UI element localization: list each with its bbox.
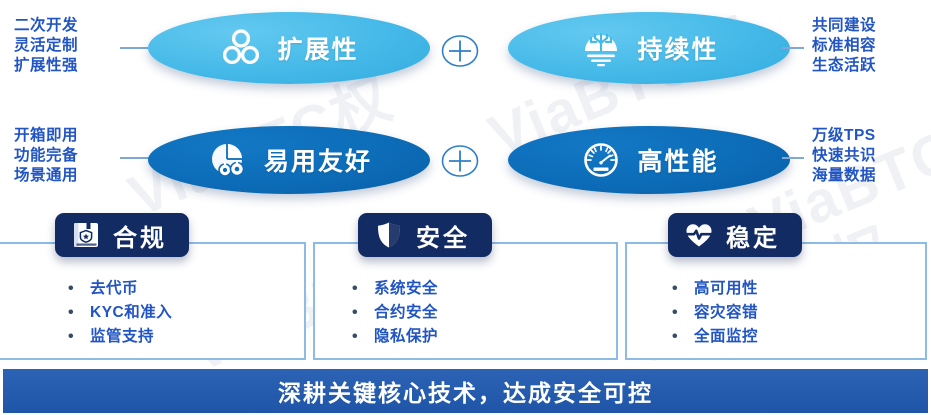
bullet-icon: • (672, 277, 694, 301)
label-line: 标准相容 (812, 36, 876, 56)
bullet-icon: • (68, 277, 90, 301)
label-line: 二次开发 (14, 16, 78, 36)
list-item: •全面监控 (672, 325, 758, 349)
list-item-label: 监管支持 (90, 325, 154, 349)
three-circles-icon (219, 26, 263, 70)
row1-right-connector (782, 47, 804, 49)
pill-performance[interactable]: 高性能 (508, 126, 790, 194)
bullet-icon: • (68, 325, 90, 349)
row2-right-label: 万级TPS 快速共识 海量数据 (812, 126, 876, 186)
shield-icon (374, 220, 404, 250)
label-line: 场景通用 (14, 166, 78, 186)
speedometer-icon (579, 138, 623, 182)
list-item-label: 隐私保护 (374, 325, 438, 349)
list-item-label: 高可用性 (694, 277, 758, 301)
list-item: •系统安全 (352, 277, 438, 301)
card-stability[interactable] (625, 242, 927, 360)
list-item-label: 容灾容错 (694, 301, 758, 325)
card-stability-header[interactable]: 稳定 (668, 213, 802, 257)
label-line: 海量数据 (812, 166, 876, 186)
bullet-icon: • (68, 301, 90, 325)
book-badge-icon (71, 220, 101, 250)
card-security-header[interactable]: 安全 (358, 213, 492, 257)
label-line: 灵活定制 (14, 36, 78, 56)
pill-sustainability[interactable]: 持续性 (508, 12, 790, 84)
infographic-canvas: ViaBTC权 ViaBTC权 ViaBTC权 ViaBTC权 ViaBTC权 … (0, 0, 931, 415)
list-item-label: KYC和准入 (90, 301, 172, 325)
tree-water-icon (579, 26, 623, 70)
list-item-label: 系统安全 (374, 277, 438, 301)
label-line: 共同建设 (812, 16, 876, 36)
row1-left-connector (120, 47, 150, 49)
banner-text: 深耕关键核心技术，达成安全可控 (278, 374, 653, 408)
list-item: •监管支持 (68, 325, 172, 349)
row1-left-label: 二次开发 灵活定制 扩展性强 (14, 16, 78, 76)
card-title: 合规 (113, 218, 167, 253)
card-compliance-list: •去代币 •KYC和准入 •监管支持 (68, 277, 172, 349)
heart-pulse-icon (684, 220, 714, 250)
list-item: •高可用性 (672, 277, 758, 301)
pie-gears-icon (206, 138, 250, 182)
list-item-label: 合约安全 (374, 301, 438, 325)
row2-left-connector (120, 157, 150, 159)
card-title: 稳定 (726, 218, 780, 253)
label-line: 扩展性强 (14, 56, 78, 76)
bullet-icon: • (352, 301, 374, 325)
pill-usability[interactable]: 易用友好 (148, 126, 430, 194)
label-line: 开箱即用 (14, 126, 78, 146)
bullet-icon: • (352, 325, 374, 349)
pill-title: 高性能 (637, 142, 718, 178)
row1-right-label: 共同建设 标准相容 生态活跃 (812, 16, 876, 76)
bottom-banner: 深耕关键核心技术，达成安全可控 (3, 369, 928, 413)
card-compliance-header[interactable]: 合规 (55, 213, 189, 257)
list-item: •隐私保护 (352, 325, 438, 349)
row2-right-connector (782, 157, 804, 159)
list-item: •去代币 (68, 277, 172, 301)
bullet-icon: • (352, 277, 374, 301)
pill-title: 扩展性 (277, 30, 358, 66)
card-stability-list: •高可用性 •容灾容错 •全面监控 (672, 277, 758, 349)
label-line: 快速共识 (812, 146, 876, 166)
list-item: •容灾容错 (672, 301, 758, 325)
row2-left-label: 开箱即用 功能完备 场景通用 (14, 126, 78, 186)
list-item-label: 全面监控 (694, 325, 758, 349)
list-item: •合约安全 (352, 301, 438, 325)
card-security-list: •系统安全 •合约安全 •隐私保护 (352, 277, 438, 349)
plus-separator-2 (441, 142, 479, 180)
pill-title: 易用友好 (264, 142, 372, 178)
card-title: 安全 (416, 218, 470, 253)
plus-separator-1 (441, 32, 479, 70)
pill-extensibility[interactable]: 扩展性 (148, 12, 430, 84)
label-line: 万级TPS (812, 126, 876, 146)
bullet-icon: • (672, 325, 694, 349)
label-line: 生态活跃 (812, 56, 876, 76)
list-item: •KYC和准入 (68, 301, 172, 325)
pill-title: 持续性 (637, 30, 718, 66)
bullet-icon: • (672, 301, 694, 325)
list-item-label: 去代币 (90, 277, 138, 301)
label-line: 功能完备 (14, 146, 78, 166)
